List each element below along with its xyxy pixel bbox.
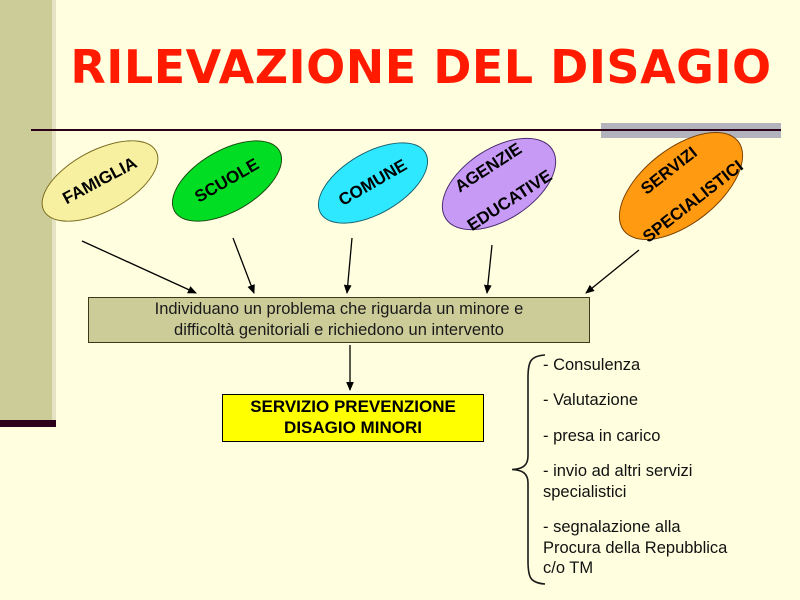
arrow-agenzie-to-problem — [487, 245, 492, 293]
action-item-invio-line1: - invio ad altri servizi — [543, 461, 795, 481]
node-famiglia-label: FAMIGLIA — [60, 154, 141, 209]
service-box-line2: DISAGIO MINORI — [284, 418, 422, 439]
service-box-line1: SERVIZIO PREVENZIONE — [250, 397, 456, 418]
curly-brace-icon — [508, 352, 548, 587]
problem-statement-box[interactable]: Individuano un problema che riguarda un … — [88, 297, 590, 343]
list-item[interactable]: - Consulenza — [543, 355, 795, 375]
slide-canvas: RILEVAZIONE DEL DISAGIO FAMIGLIA SCUOLE … — [0, 0, 800, 600]
action-item-segnalazione-line1: - segnalazione alla — [543, 517, 795, 537]
action-item-segnalazione-line3: c/o TM — [543, 558, 795, 578]
problem-statement-line2: difficoltà genitoriali e richiedono un i… — [174, 320, 504, 341]
node-comune[interactable]: COMUNE — [305, 126, 442, 241]
node-agenzie-educative[interactable]: AGENZIE EDUCATIVE — [426, 119, 573, 249]
arrow-comune-to-problem — [347, 238, 352, 293]
node-scuole[interactable]: SCUOLE — [159, 124, 296, 239]
node-servizi-specialistici-label: SERVIZI SPECIALISTICI — [615, 126, 746, 246]
node-agenzie-educative-label: AGENZIE EDUCATIVE — [443, 134, 555, 235]
left-band-foot-bar — [0, 420, 56, 427]
action-item-consulenza: - Consulenza — [543, 355, 795, 375]
list-item[interactable]: - invio ad altri servizi specialistici — [543, 461, 795, 502]
node-scuole-label: SCUOLE — [192, 155, 263, 207]
list-item[interactable]: - segnalazione alla Procura della Repubb… — [543, 517, 795, 578]
service-box[interactable]: SERVIZIO PREVENZIONE DISAGIO MINORI — [222, 394, 484, 442]
arrow-servizi-to-problem — [586, 250, 639, 293]
node-comune-label: COMUNE — [336, 156, 411, 210]
page-title: RILEVAZIONE DEL DISAGIO — [56, 40, 786, 94]
action-item-presa-in-carico: - presa in carico — [543, 426, 795, 446]
list-item[interactable]: - presa in carico — [543, 426, 795, 446]
arrow-famiglia-to-problem — [82, 241, 196, 293]
action-list: - Consulenza - Valutazione - presa in ca… — [543, 355, 795, 579]
action-item-valutazione: - Valutazione — [543, 390, 795, 410]
action-item-segnalazione-line2: Procura della Repubblica — [543, 538, 795, 558]
node-servizi-specialistici-label-line1: SERVIZI — [615, 126, 723, 216]
problem-statement-line1: Individuano un problema che riguarda un … — [155, 299, 524, 320]
header-divider-line — [31, 129, 781, 131]
arrow-scuole-to-problem — [233, 238, 254, 293]
action-item-invio-line2: specialistici — [543, 482, 795, 502]
list-item[interactable]: - Valutazione — [543, 390, 795, 410]
